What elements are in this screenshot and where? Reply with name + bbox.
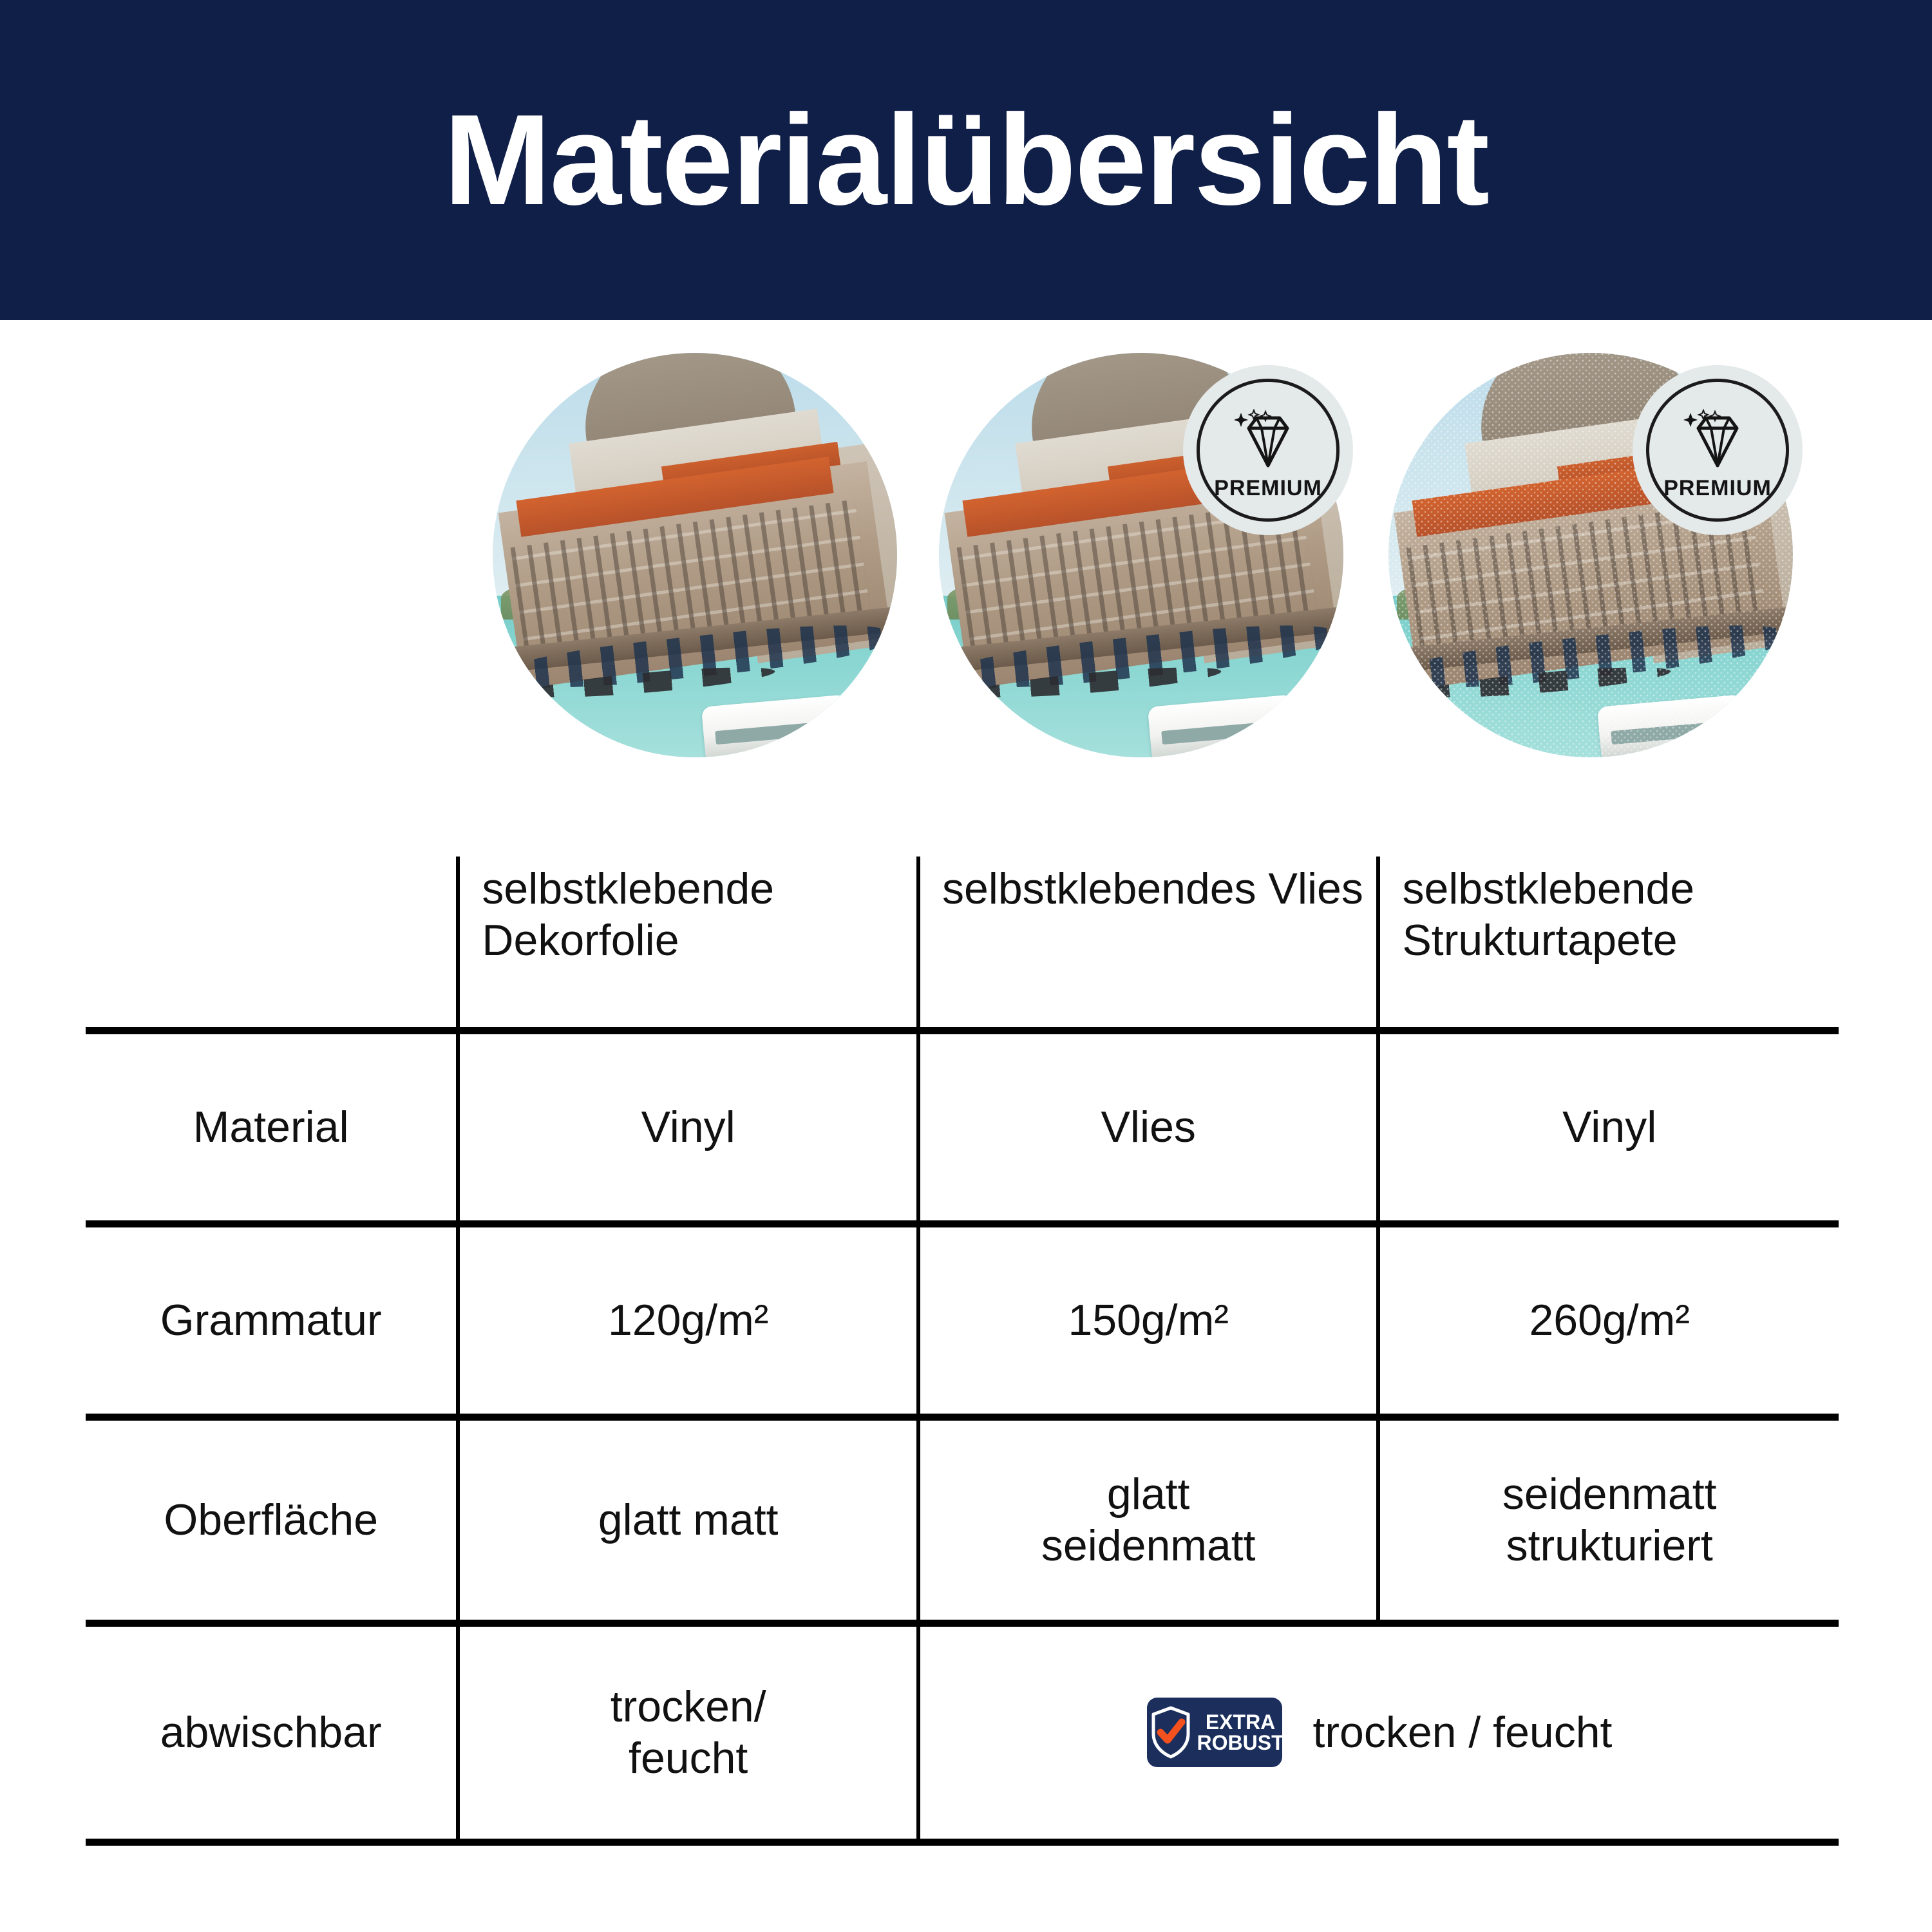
row-label-grammatur: Grammatur (86, 1224, 458, 1417)
table-header-row: selbstklebende Dekorfolie selbstklebende… (86, 857, 1839, 1030)
extra-robust-badge: EXTRA ROBUST (1147, 1698, 1282, 1767)
cell-oberflaeche-dekorfolie: glatt matt (458, 1417, 918, 1623)
row-label-oberflaeche: Oberfläche (86, 1417, 458, 1623)
cell-grammatur-dekorfolie: 120g/m² (458, 1224, 918, 1417)
cell-grammatur-strukturtapete: 260g/m² (1378, 1224, 1839, 1417)
preview-dekorfolie[interactable] (493, 353, 897, 757)
cell-material-vlies: Vlies (918, 1030, 1379, 1224)
premium-badge: PREMIUM (1188, 370, 1349, 531)
material-spec-table: selbstklebende Dekorfolie selbstklebende… (86, 857, 1839, 1823)
cell-abwischbar-dekorfolie: trocken/feucht (458, 1623, 918, 1842)
cell-abwischbar-vlies-strukturtapete: EXTRA ROBUST trocken / feucht (918, 1623, 1839, 1842)
table-row: abwischbar trocken/feucht EXTRA (86, 1623, 1839, 1842)
robust-line-2: ROBUST (1197, 1732, 1284, 1753)
preview-vlies[interactable]: PREMIUM (939, 353, 1343, 757)
badge-ring (1197, 379, 1340, 522)
preview-strukturtapete[interactable]: PREMIUM (1388, 353, 1793, 757)
cell-oberflaeche-strukturtapete: seidenmattstrukturiert (1378, 1417, 1839, 1623)
table-row: Grammatur 120g/m² 150g/m² 260g/m² (86, 1224, 1839, 1417)
header-dekorfolie: selbstklebende Dekorfolie (458, 857, 918, 1030)
cell-grammatur-vlies: 150g/m² (918, 1224, 1379, 1417)
header-corner-cell (86, 857, 458, 1030)
badge-ring (1646, 379, 1789, 522)
page-header: Materialübersicht (0, 0, 1932, 320)
cell-oberflaeche-vlies: glattseidenmatt (918, 1417, 1379, 1623)
product-preview-row: PREMIUM (0, 353, 1932, 765)
material-overview-page: Materialübersicht (0, 0, 1932, 1932)
page-title: Materialübersicht (444, 96, 1488, 225)
header-strukturtapete: selbstklebende Strukturtapete (1378, 857, 1839, 1030)
shield-check-icon (1150, 1705, 1192, 1759)
abwischbar-value: trocken / feucht (1313, 1707, 1613, 1758)
table-row: Oberfläche glatt matt glattseidenmatt se… (86, 1417, 1839, 1623)
row-label-material: Material (86, 1030, 458, 1224)
premium-badge: PREMIUM (1637, 370, 1798, 531)
cell-material-strukturtapete: Vinyl (1378, 1030, 1839, 1224)
venice-canal-image (493, 353, 897, 757)
robust-line-1: EXTRA (1197, 1712, 1284, 1732)
row-label-abwischbar: abwischbar (86, 1623, 458, 1842)
table-row: Material Vinyl Vlies Vinyl (86, 1030, 1839, 1224)
cell-material-dekorfolie: Vinyl (458, 1030, 918, 1224)
header-vlies: selbstklebendes Vlies (918, 857, 1379, 1030)
